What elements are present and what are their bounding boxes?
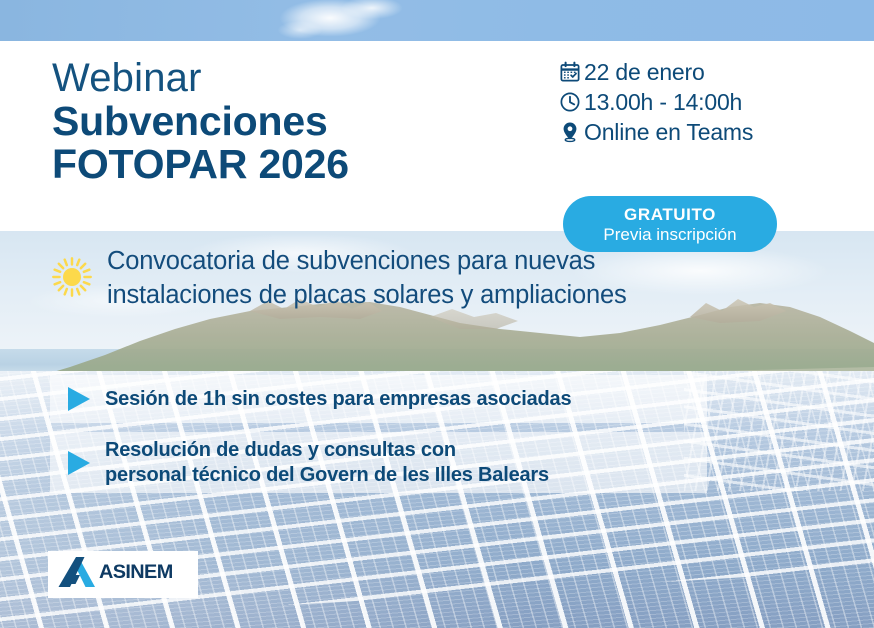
event-time-text: 13.00h - 14:00h <box>584 89 742 116</box>
bullet-2-line-1: Resolución de dudas y consultas con <box>105 438 549 462</box>
page-subtitle-title: FOTOPAR 2026 <box>52 142 349 188</box>
clock-icon <box>558 90 582 114</box>
event-info-list: 22 de enero 13.00h - 14:00h <box>558 57 753 147</box>
sun-icon <box>49 254 101 305</box>
event-date-row: 22 de enero <box>558 57 753 87</box>
webinar-poster: Webinar Subvenciones FOTOPAR 2026 <box>0 0 874 628</box>
previa-inscripcion-label: Previa inscripción <box>603 225 736 245</box>
bullet-item-1-text: Sesión de 1h sin costes para empresas as… <box>105 387 571 411</box>
event-date-text: 22 de enero <box>584 59 705 86</box>
bullet-1-line-1: Sesión de 1h sin costes para empresas as… <box>105 387 571 411</box>
page-eyebrow: Webinar <box>52 57 349 99</box>
subtitle-line-2: instalaciones de placas solares y amplia… <box>107 279 627 313</box>
event-location-row: Online en Teams <box>558 117 753 147</box>
event-location-text: Online en Teams <box>584 119 753 146</box>
sky-band-image <box>0 0 874 41</box>
header-panel: Webinar Subvenciones FOTOPAR 2026 <box>0 41 874 231</box>
subtitle-line-1: Convocatoria de subvenciones para nuevas <box>107 245 627 279</box>
bullet-item-2: Resolución de dudas y consultas con pers… <box>50 432 707 493</box>
asinem-wordmark: ASINEM <box>99 560 193 589</box>
calendar-icon <box>558 60 582 84</box>
gratuito-label: GRATUITO <box>624 205 716 225</box>
play-triangle-icon <box>61 448 95 478</box>
location-pin-icon <box>558 120 582 144</box>
svg-text:ASINEM: ASINEM <box>99 561 173 583</box>
asinem-logo[interactable]: ASINEM <box>48 551 198 598</box>
play-triangle-icon <box>61 384 95 414</box>
asinem-a-mark-icon <box>58 556 96 593</box>
event-time-row: 13.00h - 14:00h <box>558 87 753 117</box>
bullet-item-1: Sesión de 1h sin costes para empresas as… <box>50 375 707 423</box>
bullet-item-2-text: Resolución de dudas y consultas con pers… <box>105 438 549 487</box>
page-title: Subvenciones <box>52 99 349 145</box>
subtitle-text: Convocatoria de subvenciones para nuevas… <box>107 245 627 312</box>
title-block: Webinar Subvenciones FOTOPAR 2026 <box>52 57 349 188</box>
subtitle-block: Convocatoria de subvenciones para nuevas… <box>0 243 874 315</box>
bullet-2-line-2: personal técnico del Govern de les Illes… <box>105 463 549 487</box>
